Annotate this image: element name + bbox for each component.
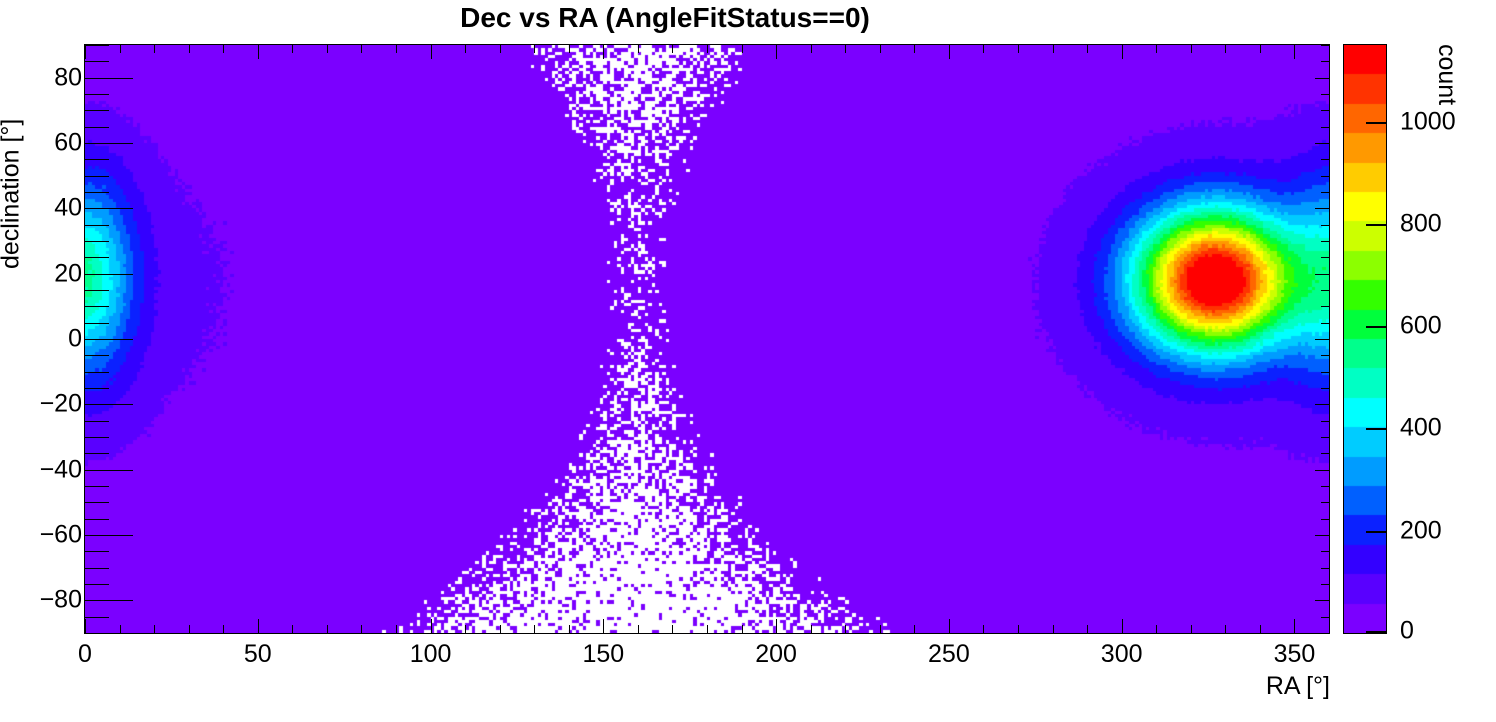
- y-right-tick: [1321, 127, 1329, 128]
- y-minor-tick: [85, 176, 109, 177]
- x-minor-tick: [569, 625, 570, 633]
- x-major-tick: [1294, 619, 1295, 633]
- y-minor-tick: [85, 127, 109, 128]
- color-bar-tick-label: 200: [1400, 516, 1442, 545]
- y-minor-tick: [85, 453, 109, 454]
- x-top-tick: [811, 45, 812, 53]
- x-axis-tick-label: 200: [755, 640, 797, 669]
- color-bar-tick: [1366, 122, 1386, 124]
- y-right-tick: [1315, 470, 1329, 471]
- x-top-tick: [880, 45, 881, 53]
- x-top-tick: [1122, 45, 1123, 59]
- y-major-tick: [85, 535, 133, 536]
- x-axis-tick-label: 50: [244, 640, 272, 669]
- y-axis-tick-label: −20: [40, 390, 82, 419]
- x-major-tick: [85, 619, 86, 633]
- x-top-tick: [465, 45, 466, 53]
- color-bar-tick: [1366, 531, 1386, 533]
- y-right-tick: [1321, 94, 1329, 95]
- x-top-tick: [949, 45, 950, 59]
- x-top-tick: [431, 45, 432, 59]
- y-minor-tick: [85, 551, 109, 552]
- y-axis-tick-label: −40: [40, 455, 82, 484]
- color-bar-tick-label: 400: [1400, 414, 1442, 443]
- x-minor-tick: [1018, 625, 1019, 633]
- y-right-tick: [1321, 486, 1329, 487]
- x-minor-tick: [1260, 625, 1261, 633]
- x-minor-tick: [1156, 625, 1157, 633]
- y-right-tick: [1321, 306, 1329, 307]
- y-major-tick: [85, 600, 133, 601]
- x-top-tick: [534, 45, 535, 53]
- x-minor-tick: [742, 625, 743, 633]
- y-right-tick: [1321, 568, 1329, 569]
- x-axis-title: RA [°]: [1266, 672, 1330, 701]
- x-top-tick: [1053, 45, 1054, 53]
- y-axis-tick-label: 0: [68, 325, 82, 354]
- x-top-tick: [258, 45, 259, 59]
- y-right-tick: [1321, 257, 1329, 258]
- x-minor-tick: [396, 625, 397, 633]
- x-minor-tick: [500, 625, 501, 633]
- y-right-tick: [1321, 61, 1329, 62]
- y-minor-tick: [85, 241, 109, 242]
- color-bar-tick: [1366, 428, 1386, 430]
- y-minor-tick: [85, 61, 109, 62]
- x-top-tick: [396, 45, 397, 53]
- y-minor-tick: [85, 372, 109, 373]
- x-top-tick: [1225, 45, 1226, 53]
- x-major-tick: [431, 619, 432, 633]
- x-top-tick: [1156, 45, 1157, 53]
- canvas-root: Dec vs RA (AngleFitStatus==0) 0501001502…: [0, 0, 1496, 722]
- y-right-tick: [1321, 192, 1329, 193]
- y-right-tick: [1321, 519, 1329, 520]
- y-major-tick: [85, 274, 133, 275]
- x-top-tick: [1294, 45, 1295, 59]
- y-right-tick: [1321, 453, 1329, 454]
- color-bar-tick-label: 800: [1400, 209, 1442, 238]
- x-top-tick: [1191, 45, 1192, 53]
- y-right-tick: [1321, 502, 1329, 503]
- y-right-tick: [1321, 633, 1329, 634]
- x-major-tick: [1122, 619, 1123, 633]
- x-top-tick: [1018, 45, 1019, 53]
- x-top-tick: [569, 45, 570, 53]
- x-minor-tick: [707, 625, 708, 633]
- x-minor-tick: [638, 625, 639, 633]
- y-minor-tick: [85, 519, 109, 520]
- y-minor-tick: [85, 486, 109, 487]
- y-minor-tick: [85, 94, 109, 95]
- x-top-tick: [154, 45, 155, 53]
- x-top-tick: [638, 45, 639, 53]
- y-minor-tick: [85, 617, 109, 618]
- x-major-tick: [603, 619, 604, 633]
- x-minor-tick: [1225, 625, 1226, 633]
- y-axis-title: declination [°]: [0, 44, 26, 344]
- y-right-tick: [1315, 274, 1329, 275]
- x-minor-tick: [189, 625, 190, 633]
- x-top-tick: [1087, 45, 1088, 53]
- y-right-tick: [1321, 110, 1329, 111]
- color-bar-tick-label: 0: [1400, 617, 1414, 646]
- y-right-tick: [1321, 437, 1329, 438]
- y-right-tick: [1321, 241, 1329, 242]
- y-minor-tick: [85, 45, 109, 46]
- x-top-tick: [983, 45, 984, 53]
- x-top-tick: [327, 45, 328, 53]
- y-major-tick: [85, 143, 133, 144]
- x-top-tick: [500, 45, 501, 53]
- x-minor-tick: [914, 625, 915, 633]
- color-bar-tick: [1366, 631, 1386, 633]
- x-major-tick: [776, 619, 777, 633]
- color-bar-tick: [1366, 326, 1386, 328]
- y-right-tick: [1315, 404, 1329, 405]
- y-minor-tick: [85, 355, 109, 356]
- y-minor-tick: [85, 290, 109, 291]
- y-minor-tick: [85, 225, 109, 226]
- x-minor-tick: [983, 625, 984, 633]
- y-right-tick: [1315, 339, 1329, 340]
- color-bar-canvas: [1344, 45, 1386, 633]
- y-right-tick: [1321, 45, 1329, 46]
- y-axis-tick-label: 20: [54, 259, 82, 288]
- x-minor-tick: [361, 625, 362, 633]
- x-top-tick: [603, 45, 604, 59]
- y-minor-tick: [85, 421, 109, 422]
- x-top-tick: [292, 45, 293, 53]
- x-top-tick: [1329, 45, 1330, 53]
- y-right-tick: [1321, 355, 1329, 356]
- x-top-tick: [742, 45, 743, 53]
- y-right-tick: [1315, 208, 1329, 209]
- x-minor-tick: [465, 625, 466, 633]
- x-minor-tick: [120, 625, 121, 633]
- x-minor-tick: [534, 625, 535, 633]
- x-top-tick: [361, 45, 362, 53]
- x-top-tick: [707, 45, 708, 53]
- y-major-tick: [85, 339, 133, 340]
- plot-frame: [84, 44, 1330, 634]
- y-right-tick: [1321, 617, 1329, 618]
- y-right-tick: [1315, 535, 1329, 536]
- x-minor-tick: [1053, 625, 1054, 633]
- color-bar-title: count: [1432, 44, 1461, 105]
- x-minor-tick: [672, 625, 673, 633]
- x-top-tick: [776, 45, 777, 59]
- y-minor-tick: [85, 568, 109, 569]
- x-top-tick: [189, 45, 190, 53]
- color-bar: [1343, 44, 1387, 634]
- y-axis-tick-label: −80: [40, 586, 82, 615]
- y-minor-tick: [85, 633, 109, 634]
- x-top-tick: [1260, 45, 1261, 53]
- y-minor-tick: [85, 437, 109, 438]
- x-minor-tick: [223, 625, 224, 633]
- y-minor-tick: [85, 257, 109, 258]
- color-bar-tick: [1366, 224, 1386, 226]
- y-axis-tick-label: 40: [54, 194, 82, 223]
- x-minor-tick: [845, 625, 846, 633]
- y-right-tick: [1315, 143, 1329, 144]
- y-minor-tick: [85, 110, 109, 111]
- x-minor-tick: [880, 625, 881, 633]
- y-axis-tick-label: 80: [54, 63, 82, 92]
- x-axis-tick-label: 0: [78, 640, 92, 669]
- x-axis-tick-label: 150: [582, 640, 624, 669]
- color-bar-tick-label: 600: [1400, 312, 1442, 341]
- y-minor-tick: [85, 192, 109, 193]
- color-bar-tick-label: 1000: [1400, 107, 1456, 136]
- y-right-tick: [1321, 388, 1329, 389]
- x-minor-tick: [811, 625, 812, 633]
- x-top-tick: [914, 45, 915, 53]
- y-right-tick: [1321, 372, 1329, 373]
- y-axis-tick-label: 60: [54, 129, 82, 158]
- y-right-tick: [1321, 225, 1329, 226]
- y-right-tick: [1321, 584, 1329, 585]
- y-minor-tick: [85, 159, 109, 160]
- y-minor-tick: [85, 323, 109, 324]
- y-right-tick: [1321, 323, 1329, 324]
- y-minor-tick: [85, 388, 109, 389]
- x-axis-tick-label: 100: [410, 640, 452, 669]
- x-minor-tick: [292, 625, 293, 633]
- x-minor-tick: [154, 625, 155, 633]
- x-major-tick: [258, 619, 259, 633]
- y-minor-tick: [85, 306, 109, 307]
- x-minor-tick: [1191, 625, 1192, 633]
- x-axis-tick-label: 350: [1274, 640, 1316, 669]
- y-right-tick: [1321, 176, 1329, 177]
- y-right-tick: [1315, 78, 1329, 79]
- x-top-tick: [120, 45, 121, 53]
- y-major-tick: [85, 470, 133, 471]
- x-minor-tick: [1329, 625, 1330, 633]
- y-major-tick: [85, 208, 133, 209]
- y-right-tick: [1321, 421, 1329, 422]
- x-top-tick: [845, 45, 846, 53]
- y-major-tick: [85, 78, 133, 79]
- x-top-tick: [672, 45, 673, 53]
- y-right-tick: [1315, 600, 1329, 601]
- x-major-tick: [949, 619, 950, 633]
- x-axis-tick-label: 250: [928, 640, 970, 669]
- y-right-tick: [1321, 159, 1329, 160]
- x-top-tick: [85, 45, 86, 59]
- y-major-tick: [85, 404, 133, 405]
- x-minor-tick: [1087, 625, 1088, 633]
- y-axis-tick-label: −60: [40, 521, 82, 550]
- y-right-tick: [1321, 290, 1329, 291]
- y-minor-tick: [85, 502, 109, 503]
- y-right-tick: [1321, 551, 1329, 552]
- x-axis-tick-label: 300: [1101, 640, 1143, 669]
- page-title: Dec vs RA (AngleFitStatus==0): [0, 2, 1330, 34]
- x-top-tick: [223, 45, 224, 53]
- x-minor-tick: [327, 625, 328, 633]
- heatmap-canvas: [85, 45, 1329, 633]
- y-minor-tick: [85, 584, 109, 585]
